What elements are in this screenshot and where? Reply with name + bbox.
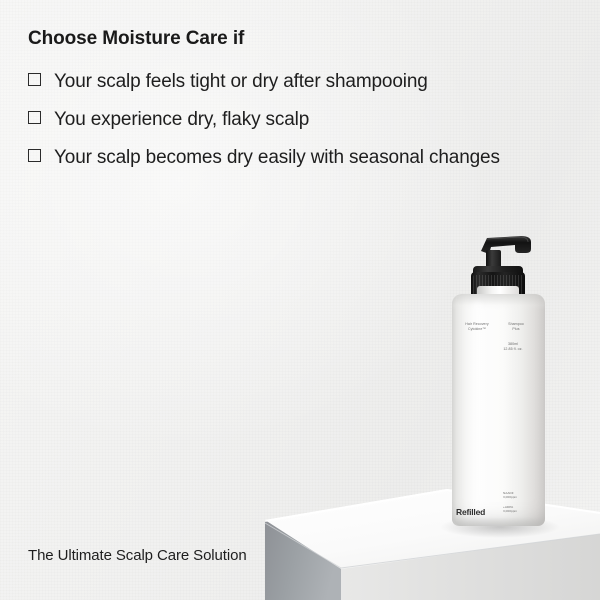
empty-checkbox-icon [28, 111, 41, 124]
list-item: Your scalp feels tight or dry after sham… [28, 69, 573, 94]
list-item-label: Your scalp feels tight or dry after sham… [54, 69, 428, 94]
label-product-name: Shampoo Plus [494, 322, 538, 332]
symptom-checklist: Your scalp feels tight or dry after sham… [28, 69, 573, 171]
copy-block: Choose Moisture Care if Your scalp feels… [28, 28, 573, 184]
page-title: Choose Moisture Care if [28, 28, 573, 51]
empty-checkbox-icon [28, 149, 41, 162]
brand-name: Refilled [456, 507, 502, 517]
list-item-label: Your scalp becomes dry easily with seaso… [54, 145, 500, 170]
list-item: You experience dry, flaky scalp [28, 107, 573, 132]
label-volume: 380ml 12.85 fl. oz. [488, 342, 538, 352]
footer-tagline: The Ultimate Scalp Care Solution [28, 547, 247, 564]
label-ingredient-adpa: +ADPA 3,000ppm [503, 505, 537, 514]
bottle-shoulder [452, 294, 545, 310]
empty-checkbox-icon [28, 73, 41, 86]
product-promo-image: Hair Recovery Cytokine™ Shampoo Plus 380… [0, 0, 600, 600]
list-item-label: You experience dry, flaky scalp [54, 107, 309, 132]
bottle-highlight [469, 302, 485, 510]
label-ingredient-naadf: NAADF 3,000ppm [503, 491, 537, 500]
list-item: Your scalp becomes dry easily with seaso… [28, 145, 573, 170]
bottle-base [454, 517, 543, 526]
label-ingredient-claim: Hair Recovery Cytokine™ [455, 322, 499, 332]
pump-nozzle-icon [471, 234, 533, 256]
